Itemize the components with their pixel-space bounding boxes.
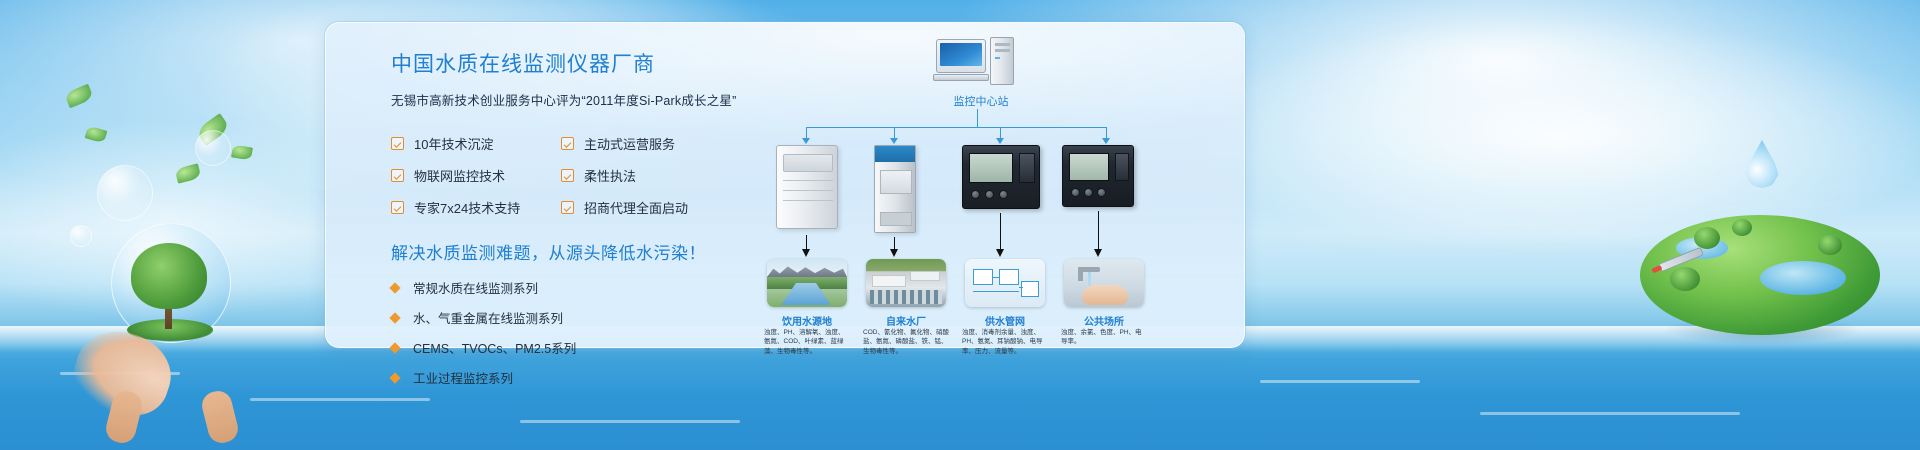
island-tree [1670, 267, 1700, 291]
arrow-icon [996, 249, 1004, 257]
leaf-icon [64, 84, 94, 109]
device-analyzer-rack [874, 145, 916, 233]
list-item[interactable]: CEMS、TVOCs、PM2.5系列 [391, 338, 791, 357]
node-description: COD、氰化物、氟化物、硝酸盐、氨氮、磷酸盐、铁、锰、生物毒性等。 [863, 328, 949, 356]
wave-line [1260, 380, 1420, 383]
scene-photo-drinking-water-source [767, 259, 847, 307]
arrow-icon [996, 138, 1004, 144]
feature-item[interactable]: 10年技术沉淀 [391, 134, 561, 153]
feature-label: 柔性执法 [584, 166, 636, 185]
right-wrist [199, 388, 241, 446]
device-water-cabinet [776, 145, 838, 229]
node-description: 浊度、余氯、色度、PH、电导率。 [1061, 328, 1147, 347]
feature-item[interactable]: 主动式运营服务 [561, 134, 675, 153]
connector-line [1098, 211, 1099, 251]
list-item[interactable]: 常规水质在线监测系列 [391, 278, 791, 297]
node-description: 浊度、PH、溶解氧、浊度、氨氮、COD、叶绿素、蓝绿藻、生物毒性等。 [764, 328, 850, 356]
leaf-icon [231, 144, 253, 160]
list-item-label: 水、气重金属在线监测系列 [413, 308, 563, 327]
list-item[interactable]: 工业过程监控系列 [391, 368, 791, 387]
island-tree [1732, 219, 1752, 236]
arrow-icon [1094, 249, 1102, 257]
monitor-screen [940, 43, 982, 66]
arrow-icon [1102, 138, 1110, 144]
connector-line [1000, 213, 1001, 251]
checkbox-checked-icon [561, 201, 574, 214]
diamond-bullet-icon [389, 312, 400, 323]
list-item[interactable]: 水、气重金属在线监测系列 [391, 308, 791, 327]
node-description: 浊度、消毒剂余量、浊度、PH、氨氮、耳钠酸钠、电导率、压力、流量等。 [962, 328, 1048, 356]
monitoring-topology-diagram: 监控中心站 [766, 37, 1226, 337]
list-item-label: CEMS、TVOCs、PM2.5系列 [413, 338, 576, 357]
checkbox-checked-icon [391, 201, 404, 214]
tree-crown [131, 243, 207, 309]
feature-checklist: 10年技术沉淀 主动式运营服务 物联网监控技术 柔性执法 [391, 134, 721, 217]
left-content-column: 中国水质在线监测仪器厂商 无锡市高新技术创业服务中心评为“2011年度Si-Pa… [391, 48, 791, 398]
bubble-decoration [70, 225, 92, 247]
feature-row: 10年技术沉淀 主动式运营服务 [391, 134, 721, 153]
scene-photo-water-plant [866, 259, 946, 307]
center-node-label: 监控中心站 [921, 93, 1041, 109]
diamond-bullet-icon [389, 372, 400, 383]
bubble-decoration [195, 130, 231, 166]
arrow-icon [890, 249, 898, 257]
arrow-icon [802, 249, 810, 257]
feature-label: 10年技术沉淀 [414, 134, 493, 153]
scene-photo-public-place [1064, 259, 1144, 307]
checkbox-checked-icon [561, 137, 574, 150]
island-tree [1818, 235, 1842, 255]
pc-tower-icon [990, 37, 1014, 85]
feature-item[interactable]: 柔性执法 [561, 166, 636, 185]
node-label: 供水管网 [965, 313, 1045, 328]
feature-label: 招商代理全面启动 [584, 198, 688, 217]
secondary-headline: 解决水质监测难题，从源头降低水污染！ [391, 239, 791, 264]
monitoring-center-computer-icon [936, 37, 1020, 89]
node-label: 公共场所 [1064, 313, 1144, 328]
list-item-label: 常规水质在线监测系列 [413, 278, 538, 297]
feature-row: 物联网监控技术 柔性执法 [391, 166, 721, 185]
device-controller-small [1062, 145, 1134, 207]
feature-item[interactable]: 招商代理全面启动 [561, 198, 688, 217]
page-title: 中国水质在线监测仪器厂商 [391, 48, 791, 78]
node-label: 饮用水源地 [767, 313, 847, 328]
green-island-illustration [1640, 215, 1880, 350]
water-drop-icon [1745, 140, 1779, 188]
leaf-icon [85, 125, 108, 143]
feature-row: 专家7x24技术支持 招商代理全面启动 [391, 198, 721, 217]
device-controller-large [962, 145, 1040, 209]
checkbox-checked-icon [391, 137, 404, 150]
list-item-label: 工业过程监控系列 [413, 368, 513, 387]
keyboard-icon [933, 74, 989, 81]
connector-line [806, 127, 1106, 128]
banner-card: 中国水质在线监测仪器厂商 无锡市高新技术创业服务中心评为“2011年度Si-Pa… [325, 22, 1245, 348]
feature-label: 物联网监控技术 [414, 166, 505, 185]
feature-item[interactable]: 物联网监控技术 [391, 166, 561, 185]
leaf-icon [175, 163, 202, 183]
diamond-bullet-icon [389, 282, 400, 293]
monitor-icon [936, 39, 986, 73]
island-tree [1694, 227, 1720, 249]
wave-line [520, 420, 740, 423]
arrow-icon [890, 138, 898, 144]
scene-photo-pipe-network [965, 259, 1045, 307]
node-label: 自来水厂 [866, 313, 946, 328]
checkbox-checked-icon [391, 169, 404, 182]
diamond-bullet-icon [389, 342, 400, 353]
arrow-icon [802, 138, 810, 144]
product-series-list: 常规水质在线监测系列 水、气重金属在线监测系列 CEMS、TVOCs、PM2.5… [391, 278, 791, 387]
page-subtitle: 无锡市高新技术创业服务中心评为“2011年度Si-Park成长之星” [391, 90, 791, 109]
feature-item[interactable]: 专家7x24技术支持 [391, 198, 561, 217]
wave-line [1480, 412, 1740, 415]
feature-label: 主动式运营服务 [584, 134, 675, 153]
feature-label: 专家7x24技术支持 [414, 198, 520, 217]
bubble-decoration [97, 165, 153, 221]
checkbox-checked-icon [561, 169, 574, 182]
hands-holding-tree-illustration [75, 215, 290, 450]
connector-line [977, 109, 978, 127]
island-lake [1760, 261, 1846, 295]
